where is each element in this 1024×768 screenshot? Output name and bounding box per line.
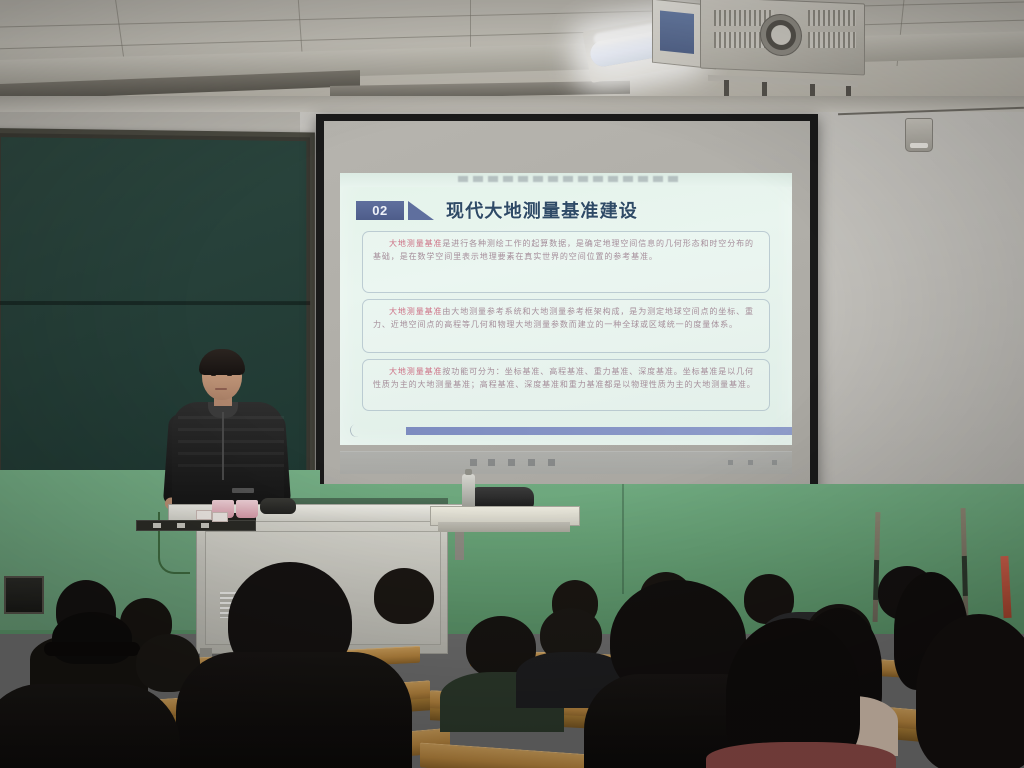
side-table-apron [438, 522, 570, 532]
slide-text-block: 大地测量基准由大地测量参考系统和大地测量参考框架构成，是为测定地球空间点的坐标、… [362, 299, 770, 353]
slide-badge-arrow-icon [408, 201, 434, 220]
projector-mount [700, 66, 865, 90]
slide-block-highlight: 大地测量基准 [389, 307, 442, 316]
projection-screen: 02 现代大地测量基准建设 大地测量基准是进行各种测绘工作的起算数据，是确定地理… [316, 114, 818, 498]
cup [236, 500, 258, 518]
presenter [168, 352, 288, 520]
slide-footer-bar [406, 427, 792, 435]
slide-block-highlight: 大地测量基准 [389, 239, 442, 248]
student-shoulders-foreground [0, 684, 180, 768]
projected-taskbar [340, 451, 792, 474]
slide-title-row: 02 现代大地测量基准建设 [356, 195, 776, 225]
student-shoulders-foreground [706, 742, 896, 768]
slide-footer [340, 425, 792, 437]
computer-mouse-icon[interactable] [260, 498, 296, 514]
small-box [196, 510, 212, 520]
slide-section-badge: 02 [356, 201, 404, 220]
jacket-logo [232, 488, 254, 493]
projection-screen-surface: 02 现代大地测量基准建设 大地测量基准是进行各种测绘工作的起算数据，是确定地理… [324, 121, 810, 489]
slide-footer-logo-icon [354, 425, 412, 437]
cap-brim-icon [44, 642, 140, 656]
water-bottle-icon [462, 474, 475, 508]
student-head-with-cap [52, 612, 132, 664]
student-head [374, 568, 434, 624]
student-shoulders-foreground [176, 652, 412, 768]
presenter-jacket [172, 402, 284, 512]
slide-text-block: 大地测量基准是进行各种测绘工作的起算数据，是确定地理空间信息的几何形态和时空分布… [362, 231, 770, 293]
slide-block-highlight: 大地测量基准 [389, 367, 442, 376]
ceiling-projector-icon [700, 0, 865, 72]
slide-title: 现代大地测量基准建设 [446, 197, 638, 223]
small-box [212, 512, 228, 522]
presenter-hair [199, 349, 245, 375]
audience [0, 556, 1024, 768]
slide-app-titlebar [340, 173, 792, 187]
projected-slide: 02 现代大地测量基准建设 大地测量基准是进行各种测绘工作的起算数据，是确定地理… [340, 173, 792, 445]
projector-lens-icon [760, 13, 802, 57]
podium-control-panel[interactable] [136, 520, 256, 531]
wall-speaker-icon [905, 118, 933, 152]
lecture-hall-photo: 02 现代大地测量基准建设 大地测量基准是进行各种测绘工作的起算数据，是确定地理… [0, 0, 1024, 768]
slide-text-block: 大地测量基准按功能可分为：坐标基准、高程基准、重力基准、深度基准。坐标基准是以几… [362, 359, 770, 411]
